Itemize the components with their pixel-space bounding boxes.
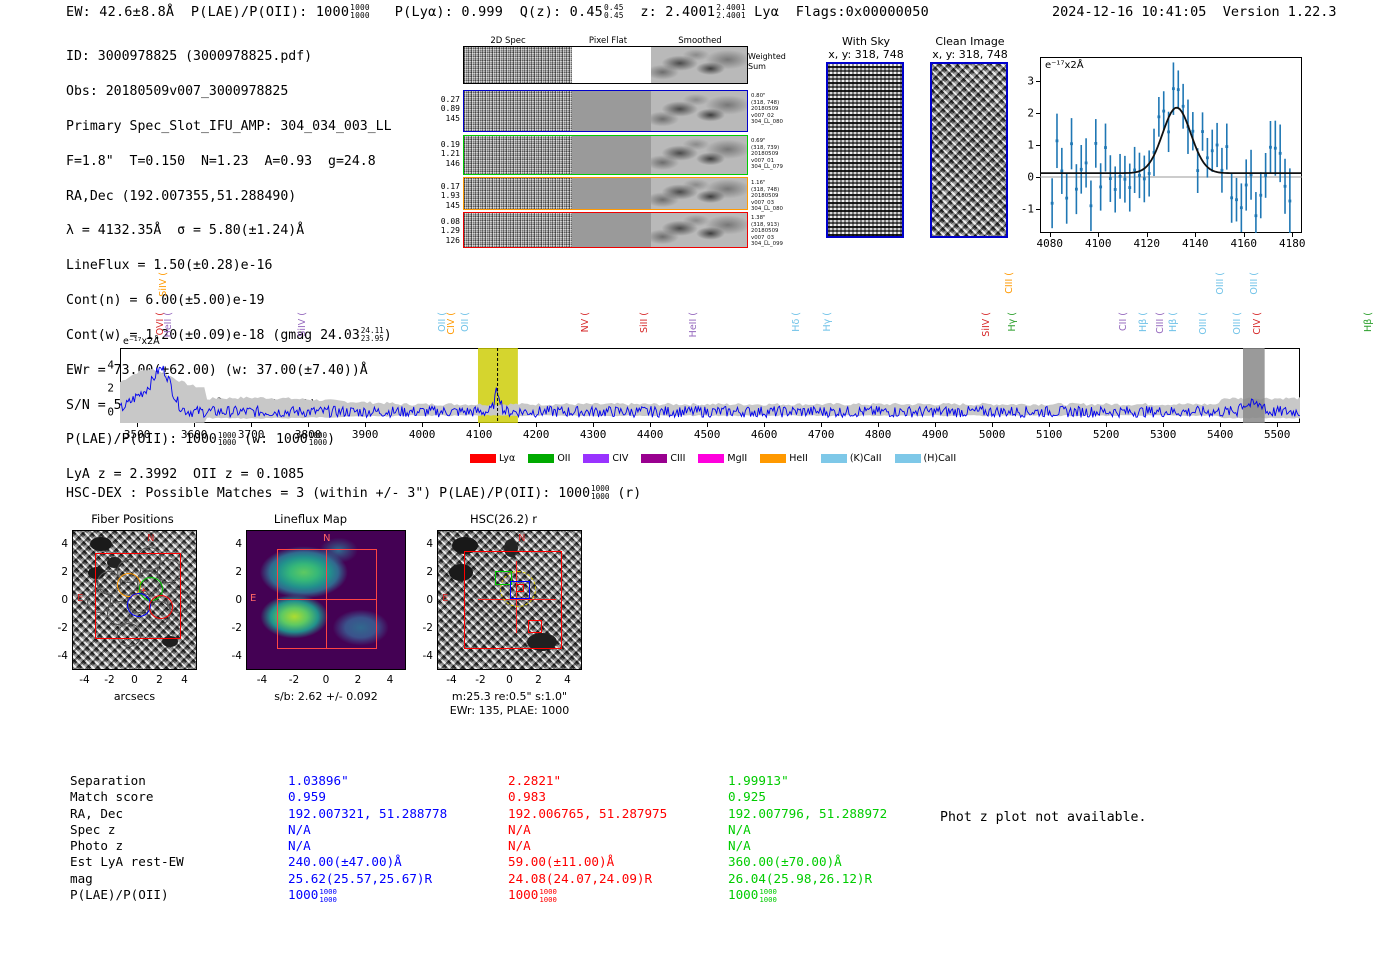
param-cont-w: Cont(w) = 1.20(±0.09)e-18 (gmag 24.0324.… <box>66 327 392 344</box>
spectrum-xtick: 3800 <box>295 428 322 441</box>
emission-line-label: CIII ( <box>1155 312 1166 334</box>
fiber-center-cross: + <box>141 587 146 596</box>
emission-line-label: CII ( <box>1118 312 1129 331</box>
panel-ytick: -2 <box>415 622 433 634</box>
table-row: mag25.62(25.57,25.67)R24.08(24.07,24.09)… <box>70 871 948 887</box>
spec2d-right-value: v007_01 <box>751 158 797 165</box>
row-label: Est LyA rest-EW <box>70 854 288 870</box>
table-row: Photo zN/AN/AN/A <box>70 838 948 854</box>
panel-xtick: 4 <box>387 674 394 686</box>
spec2d-row[interactable] <box>463 177 748 210</box>
spec2d-right-value: v007_02 <box>751 113 797 120</box>
match-value: N/A <box>508 838 728 854</box>
emission-line-label: HeII ( <box>163 312 174 337</box>
panel-xtick: 2 <box>355 674 362 686</box>
tick-mark <box>194 423 195 427</box>
legend-label: MgII <box>727 453 747 464</box>
match-value: 240.00(±47.00)Å <box>288 854 508 870</box>
panel-xtick: -4 <box>79 674 89 686</box>
match-value: 2.2821" <box>508 773 728 789</box>
panel-xtick: 4 <box>181 674 188 686</box>
param-line: RA,Dec (192.007355,51.288490) <box>66 188 392 205</box>
spec2d-right-value: 0.80" <box>751 93 797 100</box>
spectrum-xtick: 3700 <box>238 428 265 441</box>
legend-label: Lyα <box>499 453 515 464</box>
tick-mark <box>821 423 822 427</box>
panel-ytick: -4 <box>224 650 242 662</box>
tick-mark <box>650 423 651 427</box>
emission-line-label: OIII ( <box>1215 272 1226 295</box>
qz-fraction: 0.450.45 <box>604 4 624 20</box>
param-line: F=1.8" T=0.150 N=1.23 A=0.93 g=24.8 <box>66 153 392 170</box>
weighted-sum-strip <box>463 46 748 84</box>
compass-e-hsc: E <box>442 593 448 604</box>
panel-ytick: 0 <box>50 594 68 606</box>
fiber-positions-image[interactable]: + N E <box>72 530 197 670</box>
emission-line-label: CIV ( <box>1252 312 1263 335</box>
plae-label: P(LAE)/P(OII): 1000 <box>191 4 349 20</box>
tick-mark <box>1277 423 1278 427</box>
plae-fraction: 10001000 <box>350 4 370 20</box>
spec2d-right-value: 20180509 <box>751 151 797 158</box>
param-redshifts: LyA z = 2.3992 OII z = 0.1085 <box>66 466 392 483</box>
spec2d-row-right-labels: 0.69"(318, 739)20180509v007_01304_LL_079 <box>751 138 797 171</box>
legend-label: (H)CaII <box>924 453 957 464</box>
panel-xtick: -4 <box>257 674 267 686</box>
spec2d-left-value: 0.27 <box>432 95 460 104</box>
legend-item: CIII <box>641 453 685 464</box>
spectrum-xtick: 4700 <box>808 428 835 441</box>
param-line: ID: 3000978825 (3000978825.pdf) <box>66 48 392 65</box>
spec2d-right-value: 0.69" <box>751 138 797 145</box>
linefit-xtick: 4080 <box>1036 237 1063 250</box>
tick-mark <box>1163 423 1164 427</box>
spectrum-xtick: 3500 <box>124 428 151 441</box>
linefit-ytick: -1 <box>1018 203 1034 216</box>
spec2d-left-value: 145 <box>432 201 460 210</box>
spectrum-xtick: 4900 <box>922 428 949 441</box>
emission-line-label: OIII ( <box>1249 272 1260 295</box>
row-label: RA, Dec <box>70 806 288 822</box>
spec2d-left-value: 1.21 <box>432 149 460 158</box>
table-row: Separation1.03896"2.2821"1.99913" <box>70 773 948 789</box>
spec2d-right-value: (318, 748) <box>751 187 797 194</box>
spectrum-xtick: 4600 <box>751 428 778 441</box>
cutout-clean-image <box>930 62 1008 238</box>
tick-mark <box>992 423 993 427</box>
version: Version 1.22.3 <box>1223 4 1337 20</box>
tick-mark <box>1036 145 1040 146</box>
tick-mark <box>1292 233 1293 237</box>
emission-line-label: SiIV ( <box>158 272 169 297</box>
tick-mark <box>593 423 594 427</box>
ew-value: EW: 42.6±8.8Å <box>66 4 174 20</box>
tick-mark <box>1106 423 1107 427</box>
z-fraction: 2.40012.4001 <box>716 4 745 20</box>
spectrum-ytick: 0 <box>100 406 114 419</box>
panel-xtick: 0 <box>131 674 138 686</box>
emission-line-label: OIII ( <box>1232 312 1243 335</box>
legend-item: HeII <box>760 453 808 464</box>
row-label: Separation <box>70 773 288 789</box>
legend-swatch <box>470 454 496 463</box>
spec2d-right-value: 304_LL_080 <box>751 119 797 126</box>
hsc-xlabel: m:25.3 re:0.5" s:1.0" <box>432 690 587 703</box>
match-value: 100010001000 <box>288 887 508 903</box>
spectrum-xtick: 4400 <box>637 428 664 441</box>
param-line: Primary Spec_Slot_IFU_AMP: 304_034_003_L… <box>66 118 392 135</box>
table-row: Est LyA rest-EW240.00(±47.00)Å59.00(±11.… <box>70 854 948 870</box>
spec2d-right-value: 1.38" <box>751 215 797 222</box>
emission-line-label: SiII ( <box>639 312 650 333</box>
strip-col-title-pixelflat: Pixel Flat <box>573 36 643 46</box>
tick-mark <box>1220 423 1221 427</box>
param-line: LineFlux = 1.50(±0.28)e-16 <box>66 257 392 274</box>
hsc-sublabel: EWr: 135, PLAE: 1000 <box>432 704 587 717</box>
emission-line-label: OIII ( <box>1198 312 1209 335</box>
legend-swatch <box>583 454 609 463</box>
spec2d-right-value: 20180509 <box>751 106 797 113</box>
emission-line-label: SiIV ( <box>981 312 992 337</box>
panel-xtick: -4 <box>446 674 456 686</box>
panel-title-hsc-r: HSC(26.2) r <box>436 512 571 526</box>
spec2d-left-value: 0.17 <box>432 182 460 191</box>
fiber-xlabel: arcsecs <box>72 690 197 703</box>
spec2d-right-value: 1.16" <box>751 180 797 187</box>
hsc-match-red <box>528 620 542 633</box>
panel-xtick: 2 <box>156 674 163 686</box>
row-label: mag <box>70 871 288 887</box>
compass-n-lineflux: N <box>323 533 330 544</box>
match-value: 26.04(25.98,26.12)R <box>728 871 948 887</box>
panel-ytick: -2 <box>50 622 68 634</box>
spec2d-right-value: 304_LL_080 <box>751 206 797 213</box>
cutout-withsky-caption: With Sky x, y: 318, 748 <box>818 35 914 61</box>
spectrum-xtick: 4100 <box>466 428 493 441</box>
spec2d-left-value: 0.19 <box>432 140 460 149</box>
weighted-sum-label: Weighted Sum <box>748 52 786 71</box>
linefit-ytick: 0 <box>1018 171 1034 184</box>
linefit-xtick: 4120 <box>1133 237 1160 250</box>
panel-title-fiber-positions: Fiber Positions <box>65 512 200 526</box>
legend-swatch <box>698 454 724 463</box>
row-label: Photo z <box>70 838 288 854</box>
param-line: Cont(n) = 6.00(±5.00)e-19 <box>66 292 392 309</box>
legend-item: (H)CaII <box>895 453 957 464</box>
tick-mark <box>707 423 708 427</box>
match-value: 100010001000 <box>508 887 728 903</box>
panel-ytick: -2 <box>224 622 242 634</box>
match-value: 0.959 <box>288 789 508 805</box>
table-row: P(LAE)/P(OII)100010001000100010001000100… <box>70 887 948 903</box>
spec2d-row-left-labels: 0.270.89145 <box>432 95 460 123</box>
legend-swatch <box>760 454 786 463</box>
spectrum-xtick: 4800 <box>865 428 892 441</box>
tick-mark <box>536 423 537 427</box>
timestamp-version: 2024-12-16 10:41:05 Version 1.22.3 <box>1052 4 1337 20</box>
param-line: λ = 4132.35Å σ = 5.80(±1.24)Å <box>66 222 392 239</box>
panel-xtick: -2 <box>475 674 485 686</box>
spec2d-row[interactable] <box>463 90 748 132</box>
spec2d-row-left-labels: 0.191.21146 <box>432 140 460 168</box>
table-row: RA, Dec192.007321, 51.288778192.006765, … <box>70 806 948 822</box>
compass-e-fiber: E <box>77 593 83 604</box>
spec2d-left-value: 146 <box>432 159 460 168</box>
tick-mark <box>479 423 480 427</box>
panel-ytick: 4 <box>415 538 433 550</box>
timestamp: 2024-12-16 10:41:05 <box>1052 4 1206 20</box>
parameter-block: ID: 3000978825 (3000978825.pdf) Obs: 201… <box>66 31 392 501</box>
panel-xtick: -2 <box>289 674 299 686</box>
tick-mark <box>422 423 423 427</box>
spectrum-xtick: 5000 <box>979 428 1006 441</box>
row-label: P(LAE)/P(OII) <box>70 887 288 903</box>
match-value: N/A <box>728 822 948 838</box>
emission-line-label: CIII ( <box>1004 272 1015 294</box>
fiber-circle-blue <box>127 593 151 617</box>
legend-label: HeII <box>789 453 808 464</box>
linefit-xtick: 4160 <box>1231 237 1258 250</box>
emission-line-label: Hβ ( <box>1168 312 1179 332</box>
tick-mark <box>251 423 252 427</box>
spec2d-left-value: 145 <box>432 114 460 123</box>
panel-ytick: 0 <box>224 594 242 606</box>
panel-ytick: 0 <box>415 594 433 606</box>
qz-label: Q(z): 0.45 <box>520 4 603 20</box>
match-value: 0.925 <box>728 789 948 805</box>
spec2d-row-left-labels: 0.081.29126 <box>432 217 460 245</box>
tick-mark <box>1098 233 1099 237</box>
spec2d-right-value: v007_03 <box>751 200 797 207</box>
legend-label: OII <box>557 453 570 464</box>
linefit-xtick: 4140 <box>1182 237 1209 250</box>
row-label: Match score <box>70 789 288 805</box>
strip-col-title-smoothed: Smoothed <box>665 36 735 46</box>
spectrum-ytick: 2 <box>100 382 114 395</box>
spectrum-ytick: 4 <box>100 358 114 371</box>
spec2d-right-value: 20180509 <box>751 228 797 235</box>
panel-ytick: -4 <box>50 650 68 662</box>
panel-xtick: 0 <box>506 674 513 686</box>
hscdex-header: HSC-DEX : Possible Matches = 3 (within +… <box>66 485 641 501</box>
match-value: N/A <box>288 838 508 854</box>
row-label: Spec z <box>70 822 288 838</box>
spectrum-xtick: 3600 <box>181 428 208 441</box>
emission-line-label: Hδ ( <box>791 312 802 332</box>
spectrum-legend: Lyα OII CIV CIII MgII HeII (K)CaII (H)Ca… <box>470 453 965 464</box>
fiber-circle-red <box>149 595 173 619</box>
spectrum-xtick: 5500 <box>1264 428 1291 441</box>
lineflux-map-image[interactable]: N E <box>246 530 406 670</box>
match-value: 1.99913" <box>728 773 948 789</box>
spec2d-left-value: 1.29 <box>432 226 460 235</box>
panel-xtick: 0 <box>323 674 330 686</box>
emission-line-label: Hγ ( <box>822 312 833 332</box>
spectrum-xtick: 4500 <box>694 428 721 441</box>
linefit-ytick: 2 <box>1018 107 1034 120</box>
spectrum-plot-area <box>120 348 1300 423</box>
match-value: 360.00(±70.00)Å <box>728 854 948 870</box>
param-line: Obs: 20180509v007_3000978825 <box>66 83 392 100</box>
lineflux-xlabel: s/b: 2.62 +/- 0.092 <box>246 690 406 703</box>
spec2d-row-right-labels: 1.16"(318, 748)20180509v007_03304_LL_080 <box>751 180 797 213</box>
param-plae: P(LAE)/P(OII): 100010001000 (w: 10001000… <box>66 431 392 448</box>
cutout-clean-caption: Clean Image x, y: 318, 748 <box>920 35 1020 61</box>
panel-xtick: 4 <box>564 674 571 686</box>
legend-swatch <box>821 454 847 463</box>
linefit-xtick: 4180 <box>1279 237 1306 250</box>
match-value: 1.03896" <box>288 773 508 789</box>
tick-mark <box>1036 81 1040 82</box>
linefit-plot-area <box>1040 57 1302 233</box>
spectrum-xtick: 4000 <box>409 428 436 441</box>
legend-label: (K)CaII <box>850 453 882 464</box>
spectrum-xtick: 5300 <box>1150 428 1177 441</box>
spec2d-left-value: 1.93 <box>432 191 460 200</box>
linefit-chart: e⁻¹⁷x2Å <box>1040 57 1302 233</box>
flags-value: Flags:0x00000050 <box>796 4 929 20</box>
emission-line-label: HeII ( <box>688 312 699 337</box>
match-value: 0.983 <box>508 789 728 805</box>
legend-item: CIV <box>583 453 628 464</box>
spec2d-right-value: 304_LL_099 <box>751 241 797 248</box>
spectrum-xtick: 5200 <box>1093 428 1120 441</box>
legend-swatch <box>641 454 667 463</box>
legend-item: OII <box>528 453 570 464</box>
panel-xtick: 2 <box>535 674 542 686</box>
cutout-withsky-image <box>826 62 904 238</box>
panel-title-lineflux-map: Lineflux Map <box>243 512 378 526</box>
panel-ytick: 2 <box>415 566 433 578</box>
tick-mark <box>935 423 936 427</box>
tick-mark <box>764 423 765 427</box>
plya-value: P(Lyα): 0.999 <box>395 4 503 20</box>
tick-mark <box>1036 209 1040 210</box>
summary-headline: EW: 42.6±8.8Å P(LAE)/P(OII): 10001000100… <box>66 4 929 20</box>
spectrum-xtick: 4300 <box>580 428 607 441</box>
legend-label: CIV <box>612 453 628 464</box>
linefit-xtick: 4100 <box>1085 237 1112 250</box>
emission-line-label: OII ( <box>460 312 471 332</box>
strip-col-title-2dspec: 2D Spec <box>478 36 538 46</box>
match-value: 192.007796, 51.288972 <box>728 806 948 822</box>
tick-mark <box>1147 233 1148 237</box>
z-suffix: Lyα <box>754 4 779 20</box>
legend-swatch <box>895 454 921 463</box>
spec2d-row[interactable] <box>463 135 748 175</box>
tick-mark <box>137 423 138 427</box>
spec2d-right-value: (318, 913) <box>751 222 797 229</box>
emission-line-label: Hβ ( <box>1363 312 1374 332</box>
match-value: N/A <box>508 822 728 838</box>
spectrum-xtick: 5100 <box>1036 428 1063 441</box>
linefit-ytick: 3 <box>1018 75 1034 88</box>
spectrum-chart: e⁻¹⁷x2Å <box>120 348 1300 423</box>
spec2d-left-value: 0.08 <box>432 217 460 226</box>
table-row: Match score0.9590.9830.925 <box>70 789 948 805</box>
spectrum-xtick: 4200 <box>523 428 550 441</box>
match-value: 24.08(24.07,24.09)R <box>508 871 728 887</box>
match-value: 192.006765, 51.287975 <box>508 806 728 822</box>
match-value: 192.007321, 51.288778 <box>288 806 508 822</box>
legend-item: MgII <box>698 453 747 464</box>
panel-ytick: 4 <box>224 538 242 550</box>
spectrum-xtick: 5400 <box>1207 428 1234 441</box>
spec2d-right-value: 20180509 <box>751 193 797 200</box>
emission-line-label: Hβ ( <box>1138 312 1149 332</box>
spec2d-left-value: 126 <box>432 236 460 245</box>
z-label: z: 2.4001 <box>640 4 715 20</box>
hsc-r-image[interactable]: N E <box>437 530 582 670</box>
spec2d-row[interactable] <box>463 212 748 248</box>
spectrum-units-label: e⁻¹⁷x2Å <box>123 336 160 347</box>
compass-n-hsc: N <box>518 533 525 544</box>
photz-note: Phot z plot not available. <box>940 810 1146 825</box>
spectrum-xtick: 3900 <box>352 428 379 441</box>
table-row: Spec zN/AN/AN/A <box>70 822 948 838</box>
match-value: 100010001000 <box>728 887 948 903</box>
match-value: N/A <box>288 822 508 838</box>
match-value: 59.00(±11.00)Å <box>508 854 728 870</box>
panel-ytick: 2 <box>224 566 242 578</box>
spec2d-right-value: 304_LL_079 <box>751 164 797 171</box>
tick-mark <box>1195 233 1196 237</box>
legend-swatch <box>528 454 554 463</box>
legend-label: CIII <box>670 453 685 464</box>
match-value: N/A <box>728 838 948 854</box>
panel-ytick: 4 <box>50 538 68 550</box>
match-value: 25.62(25.57,25.67)R <box>288 871 508 887</box>
tick-mark <box>1036 113 1040 114</box>
tick-mark <box>1036 177 1040 178</box>
matches-table: Separation1.03896"2.2821"1.99913"Match s… <box>70 773 948 903</box>
spec2d-row-right-labels: 1.38"(318, 913)20180509v007_03304_LL_099 <box>751 215 797 248</box>
panel-xtick: -2 <box>104 674 114 686</box>
tick-mark <box>365 423 366 427</box>
compass-e-lineflux: E <box>250 593 256 604</box>
spec2d-row-right-labels: 0.80"(318, 748)20180509v007_02304_LL_080 <box>751 93 797 126</box>
legend-item: (K)CaII <box>821 453 882 464</box>
panel-ytick: -4 <box>415 650 433 662</box>
panel-ytick: 2 <box>50 566 68 578</box>
tick-mark <box>1244 233 1245 237</box>
spec2d-right-value: (318, 748) <box>751 100 797 107</box>
emission-line-label: SiIV ( <box>297 312 308 337</box>
emission-line-label: CIV ( <box>446 312 457 335</box>
spec2d-row-left-labels: 0.171.93145 <box>432 182 460 210</box>
spec2d-right-value: v007_03 <box>751 235 797 242</box>
tick-mark <box>1050 233 1051 237</box>
emission-line-label: Hγ ( <box>1007 312 1018 332</box>
tick-mark <box>308 423 309 427</box>
legend-item: Lyα <box>470 453 515 464</box>
spec2d-right-value: (318, 739) <box>751 145 797 152</box>
tick-mark <box>1049 423 1050 427</box>
compass-n-fiber: N <box>147 533 154 544</box>
emission-line-label: NV ( <box>580 312 591 332</box>
tick-mark <box>878 423 879 427</box>
linefit-ytick: 1 <box>1018 139 1034 152</box>
spec2d-left-value: 0.89 <box>432 104 460 113</box>
